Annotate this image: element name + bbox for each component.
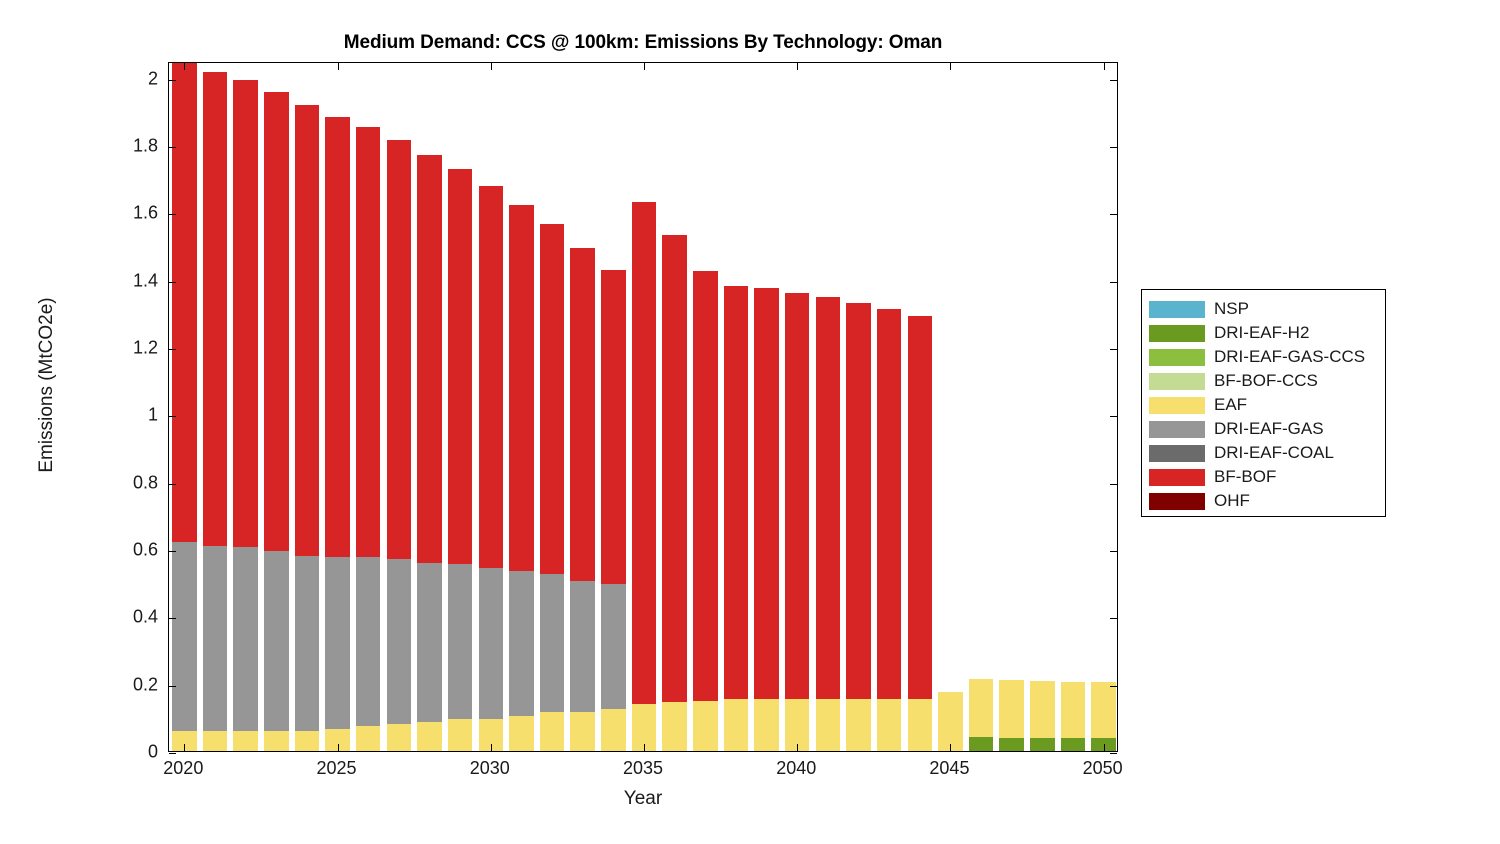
y-tick-mark xyxy=(1110,416,1117,417)
legend-swatch-icon xyxy=(1149,397,1205,414)
legend-item-eaf[interactable]: EAF xyxy=(1149,393,1385,417)
legend-item-label: BF-BOF-CCS xyxy=(1214,371,1318,391)
bar-segment-bf-bof xyxy=(325,117,350,558)
y-tick-label: 1 xyxy=(112,405,158,426)
x-tick-mark xyxy=(644,63,645,70)
y-tick-mark xyxy=(1110,753,1117,754)
bar-segment-eaf xyxy=(1091,682,1116,738)
bar-segment-eaf xyxy=(295,731,320,751)
bar-segment-bf-bof xyxy=(785,293,810,699)
legend-item-label: OHF xyxy=(1214,491,1250,511)
legend-swatch-icon xyxy=(1149,301,1205,318)
bar-segment-eaf xyxy=(540,712,565,751)
x-tick-mark xyxy=(184,63,185,70)
bar-segment-dri-eaf-gas xyxy=(233,547,258,730)
legend-item-dri-eaf-gas[interactable]: DRI-EAF-GAS xyxy=(1149,417,1385,441)
bar-segment-bf-bof xyxy=(693,271,718,701)
bar-segment-eaf xyxy=(754,699,779,751)
bar-segment-bf-bof xyxy=(570,248,595,581)
y-axis-label: Emissions (MtCO2e) xyxy=(36,235,58,535)
bar-segment-eaf xyxy=(846,699,871,751)
y-tick-label: 1.6 xyxy=(112,203,158,224)
y-tick-mark xyxy=(1110,80,1117,81)
x-tick-mark xyxy=(644,744,645,751)
bar-segment-bf-bof xyxy=(846,303,871,699)
x-tick-label: 2040 xyxy=(756,758,836,779)
y-tick-mark xyxy=(1110,686,1117,687)
bar-segment-bf-bof xyxy=(908,316,933,699)
y-tick-label: 0.4 xyxy=(112,607,158,628)
bar-segment-dri-eaf-gas xyxy=(203,546,228,731)
bars-layer xyxy=(169,63,1117,751)
x-tick-mark xyxy=(491,744,492,751)
bar-segment-eaf xyxy=(693,701,718,751)
y-tick-label: 1.8 xyxy=(112,136,158,157)
bar-segment-bf-bof xyxy=(816,297,841,699)
bar-segment-dri-eaf-gas xyxy=(479,568,504,719)
x-tick-label: 2030 xyxy=(450,758,530,779)
y-tick-mark xyxy=(169,282,176,283)
bar-segment-bf-bof xyxy=(601,270,626,585)
x-tick-mark xyxy=(950,744,951,751)
legend-item-label: DRI-EAF-GAS xyxy=(1214,419,1324,439)
bar-segment-dri-eaf-gas xyxy=(172,542,197,730)
bar-segment-eaf xyxy=(387,724,412,751)
bar-segment-dri-eaf-gas xyxy=(387,559,412,724)
x-tick-mark xyxy=(338,744,339,751)
bar-segment-bf-bof xyxy=(233,80,258,547)
bar-segment-eaf xyxy=(570,712,595,751)
y-tick-label: 0.8 xyxy=(112,472,158,493)
bar-segment-bf-bof xyxy=(754,288,779,699)
x-tick-label: 2045 xyxy=(909,758,989,779)
bar-segment-dri-eaf-gas xyxy=(448,564,473,719)
plot-area xyxy=(168,62,1118,752)
bar-segment-dri-eaf-gas xyxy=(540,574,565,712)
bar-segment-eaf xyxy=(877,699,902,751)
y-tick-mark xyxy=(1110,282,1117,283)
y-tick-label: 1.2 xyxy=(112,338,158,359)
x-tick-label: 2020 xyxy=(143,758,223,779)
x-tick-mark xyxy=(1104,63,1105,70)
bar-segment-bf-bof xyxy=(203,72,228,546)
legend-item-bf-bof[interactable]: BF-BOF xyxy=(1149,465,1385,489)
x-tick-mark xyxy=(797,744,798,751)
bar-segment-bf-bof xyxy=(417,155,442,562)
legend-item-nsp[interactable]: NSP xyxy=(1149,297,1385,321)
bar-segment-bf-bof xyxy=(448,169,473,564)
bar-segment-bf-bof xyxy=(509,205,534,571)
bar-segment-eaf xyxy=(203,731,228,751)
legend-item-dri-eaf-h2[interactable]: DRI-EAF-H2 xyxy=(1149,321,1385,345)
bar-segment-bf-bof xyxy=(172,63,197,542)
legend-item-ohf[interactable]: OHF xyxy=(1149,489,1385,513)
x-tick-label: 2035 xyxy=(603,758,683,779)
bar-segment-eaf xyxy=(816,699,841,751)
y-tick-label: 0.2 xyxy=(112,674,158,695)
y-tick-mark xyxy=(1110,618,1117,619)
bar-segment-bf-bof xyxy=(724,286,749,699)
bar-segment-dri-eaf-gas xyxy=(509,571,534,716)
bar-segment-dri-eaf-gas xyxy=(295,556,320,731)
bar-segment-dri-eaf-h2 xyxy=(1030,738,1055,751)
bar-segment-dri-eaf-gas xyxy=(417,563,442,723)
bar-segment-bf-bof xyxy=(877,309,902,698)
bar-segment-dri-eaf-gas xyxy=(601,584,626,709)
legend-swatch-icon xyxy=(1149,421,1205,438)
x-tick-mark xyxy=(338,63,339,70)
legend-item-label: DRI-EAF-COAL xyxy=(1214,443,1334,463)
x-tick-mark xyxy=(491,63,492,70)
bar-segment-bf-bof xyxy=(540,224,565,574)
bar-segment-bf-bof xyxy=(632,202,657,704)
y-tick-mark xyxy=(1110,349,1117,350)
legend-item-dri-eaf-gas-ccs[interactable]: DRI-EAF-GAS-CCS xyxy=(1149,345,1385,369)
bar-segment-eaf xyxy=(938,692,963,751)
y-tick-mark xyxy=(169,349,176,350)
legend-item-dri-eaf-coal[interactable]: DRI-EAF-COAL xyxy=(1149,441,1385,465)
bar-segment-eaf xyxy=(448,719,473,751)
bar-segment-eaf xyxy=(509,716,534,751)
bar-segment-eaf xyxy=(662,702,687,751)
x-tick-mark xyxy=(797,63,798,70)
legend-item-label: DRI-EAF-H2 xyxy=(1214,323,1309,343)
y-tick-label: 2 xyxy=(112,68,158,89)
x-tick-mark xyxy=(1104,744,1105,751)
y-tick-mark xyxy=(169,80,176,81)
bar-segment-bf-bof xyxy=(295,105,320,555)
x-axis-label: Year xyxy=(168,788,1118,810)
chart-title: Medium Demand: CCS @ 100km: Emissions By… xyxy=(168,32,1118,54)
legend-swatch-icon xyxy=(1149,493,1205,510)
bar-segment-eaf xyxy=(724,699,749,751)
y-tick-label: 0.6 xyxy=(112,540,158,561)
y-tick-mark xyxy=(169,214,176,215)
legend-swatch-icon xyxy=(1149,469,1205,486)
legend: NSPDRI-EAF-H2DRI-EAF-GAS-CCSBF-BOF-CCSEA… xyxy=(1141,289,1386,517)
bar-segment-dri-eaf-gas xyxy=(570,581,595,712)
bar-segment-dri-eaf-gas xyxy=(264,551,289,731)
legend-swatch-icon xyxy=(1149,349,1205,366)
figure-canvas: Medium Demand: CCS @ 100km: Emissions By… xyxy=(0,0,1500,844)
bar-segment-eaf xyxy=(969,679,994,737)
bar-segment-eaf xyxy=(264,731,289,751)
y-tick-label: 1.4 xyxy=(112,270,158,291)
bar-segment-bf-bof xyxy=(264,92,289,551)
x-tick-mark xyxy=(184,744,185,751)
bar-segment-eaf xyxy=(908,699,933,751)
bar-segment-eaf xyxy=(417,722,442,751)
legend-item-label: DRI-EAF-GAS-CCS xyxy=(1214,347,1365,367)
legend-item-label: EAF xyxy=(1214,395,1247,415)
y-tick-mark xyxy=(1110,484,1117,485)
legend-swatch-icon xyxy=(1149,445,1205,462)
bar-segment-eaf xyxy=(356,726,381,751)
y-tick-mark xyxy=(169,416,176,417)
bar-segment-bf-bof xyxy=(356,127,381,558)
bar-segment-dri-eaf-h2 xyxy=(1061,738,1086,751)
legend-item-bf-bof-ccs[interactable]: BF-BOF-CCS xyxy=(1149,369,1385,393)
bar-segment-eaf xyxy=(233,731,258,751)
y-tick-mark xyxy=(169,147,176,148)
y-tick-mark xyxy=(1110,214,1117,215)
y-tick-mark xyxy=(169,484,176,485)
legend-swatch-icon xyxy=(1149,325,1205,342)
bar-segment-eaf xyxy=(999,680,1024,737)
legend-item-label: BF-BOF xyxy=(1214,467,1276,487)
bar-segment-dri-eaf-gas xyxy=(356,557,381,725)
y-tick-mark xyxy=(1110,551,1117,552)
y-tick-mark xyxy=(1110,147,1117,148)
y-tick-mark xyxy=(169,551,176,552)
bar-segment-eaf xyxy=(1030,681,1055,738)
y-tick-mark xyxy=(169,618,176,619)
bar-segment-eaf xyxy=(601,709,626,751)
legend-item-label: NSP xyxy=(1214,299,1249,319)
x-tick-mark xyxy=(950,63,951,70)
bar-segment-bf-bof xyxy=(387,140,412,559)
bar-segment-dri-eaf-h2 xyxy=(999,738,1024,751)
bar-segment-dri-eaf-gas xyxy=(325,557,350,729)
bar-segment-eaf xyxy=(1061,682,1086,739)
x-tick-label: 2050 xyxy=(1063,758,1143,779)
y-tick-mark xyxy=(169,686,176,687)
y-tick-mark xyxy=(169,753,176,754)
legend-swatch-icon xyxy=(1149,373,1205,390)
bar-segment-bf-bof xyxy=(479,186,504,567)
x-tick-label: 2025 xyxy=(297,758,377,779)
bar-segment-bf-bof xyxy=(662,235,687,702)
bar-segment-dri-eaf-h2 xyxy=(969,737,994,751)
